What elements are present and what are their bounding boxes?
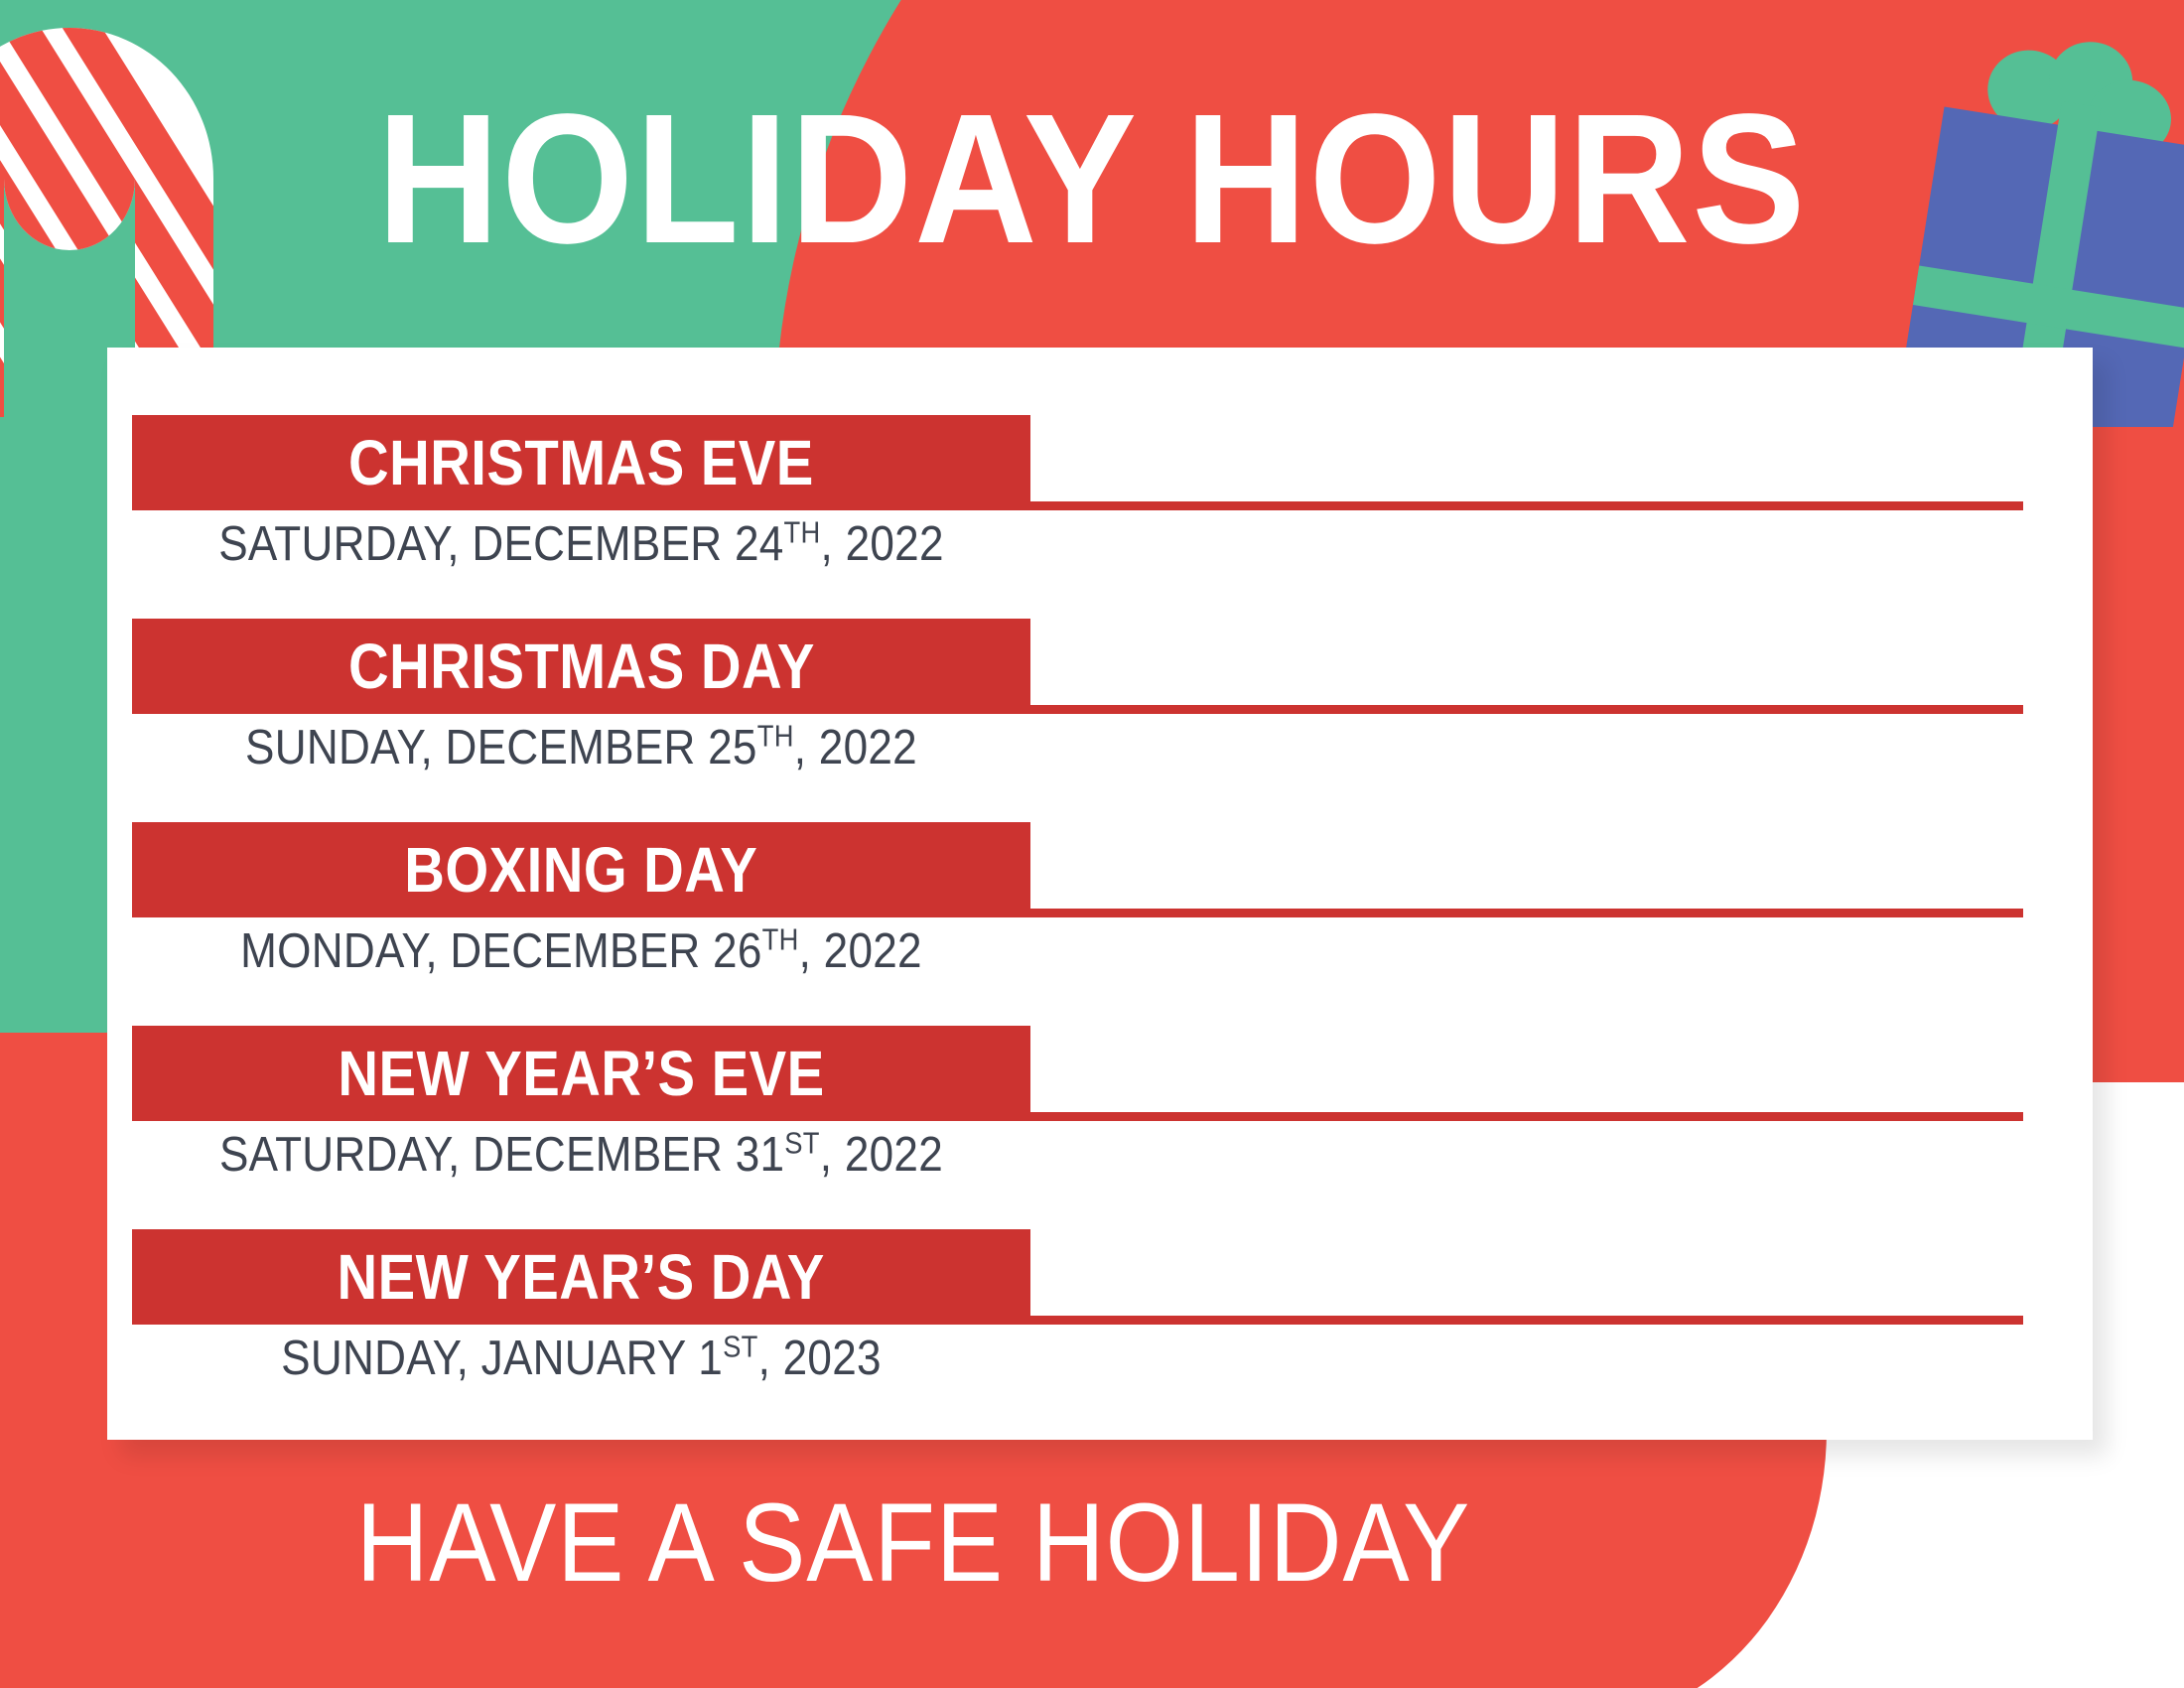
hours-row: CHRISTMAS DAY SUNDAY, DECEMBER 25TH, 202… bbox=[107, 619, 2093, 822]
page-title: HOLIDAY HOURS bbox=[87, 87, 2097, 272]
holiday-date-ordinal: TH bbox=[757, 720, 794, 754]
holiday-date: SUNDAY, JANUARY 1ST, 2023 bbox=[177, 1329, 986, 1389]
writing-line bbox=[1006, 1112, 2023, 1121]
holiday-date-ordinal: TH bbox=[784, 516, 821, 550]
holiday-date-weekday: SATURDAY, DECEMBER 31 bbox=[219, 1128, 784, 1182]
holiday-name-label: CHRISTMAS EVE bbox=[348, 431, 814, 494]
holiday-name-label: NEW YEAR’S EVE bbox=[338, 1042, 824, 1105]
holiday-name-band: NEW YEAR’S EVE bbox=[132, 1026, 1030, 1121]
holiday-date-ordinal: ST bbox=[723, 1331, 757, 1364]
holiday-date-weekday: SATURDAY, DECEMBER 24 bbox=[218, 517, 783, 571]
holiday-date: SUNDAY, DECEMBER 25TH, 2022 bbox=[177, 718, 986, 778]
holiday-date-ordinal: ST bbox=[784, 1127, 819, 1161]
holiday-name-band: BOXING DAY bbox=[132, 822, 1030, 917]
holiday-date-weekday: MONDAY, DECEMBER 26 bbox=[240, 924, 761, 978]
holiday-date: MONDAY, DECEMBER 26TH, 2022 bbox=[177, 921, 986, 982]
hours-list: CHRISTMAS EVE SATURDAY, DECEMBER 24TH, 2… bbox=[107, 348, 2093, 1433]
hours-row: BOXING DAY MONDAY, DECEMBER 26TH, 2022 bbox=[107, 822, 2093, 1026]
holiday-name-band: CHRISTMAS DAY bbox=[132, 619, 1030, 714]
holiday-name-label: BOXING DAY bbox=[405, 838, 758, 902]
writing-line bbox=[1006, 501, 2023, 510]
hours-row: NEW YEAR’S EVE SATURDAY, DECEMBER 31ST, … bbox=[107, 1026, 2093, 1229]
holiday-name-band: CHRISTMAS EVE bbox=[132, 415, 1030, 510]
holiday-date-year: , 2022 bbox=[794, 721, 917, 774]
holiday-hours-poster: HOLIDAY HOURS CHRISTMAS EVE SATURDAY, DE… bbox=[0, 0, 2184, 1688]
holiday-date: SATURDAY, DECEMBER 31ST, 2022 bbox=[177, 1125, 986, 1186]
hours-row: CHRISTMAS EVE SATURDAY, DECEMBER 24TH, 2… bbox=[107, 415, 2093, 619]
holiday-date-ordinal: TH bbox=[762, 923, 799, 957]
holiday-date-year: , 2022 bbox=[799, 924, 922, 978]
footer-message: HAVE A SAFE HOLIDAY bbox=[91, 1487, 1735, 1599]
hours-row: NEW YEAR’S DAY SUNDAY, JANUARY 1ST, 2023 bbox=[107, 1229, 2093, 1433]
holiday-name-label: CHRISTMAS DAY bbox=[348, 634, 815, 698]
holiday-name-label: NEW YEAR’S DAY bbox=[338, 1245, 825, 1309]
holiday-date-year: , 2022 bbox=[821, 517, 944, 571]
holiday-date-year: , 2022 bbox=[820, 1128, 943, 1182]
writing-line bbox=[1006, 1316, 2023, 1325]
writing-line bbox=[1006, 705, 2023, 714]
writing-line bbox=[1006, 909, 2023, 917]
holiday-date-weekday: SUNDAY, JANUARY 1 bbox=[281, 1332, 723, 1385]
holiday-date-weekday: SUNDAY, DECEMBER 25 bbox=[245, 721, 757, 774]
holiday-name-band: NEW YEAR’S DAY bbox=[132, 1229, 1030, 1325]
holiday-date: SATURDAY, DECEMBER 24TH, 2022 bbox=[177, 514, 986, 575]
holiday-date-year: , 2023 bbox=[758, 1332, 882, 1385]
hours-card: CHRISTMAS EVE SATURDAY, DECEMBER 24TH, 2… bbox=[107, 348, 2093, 1440]
